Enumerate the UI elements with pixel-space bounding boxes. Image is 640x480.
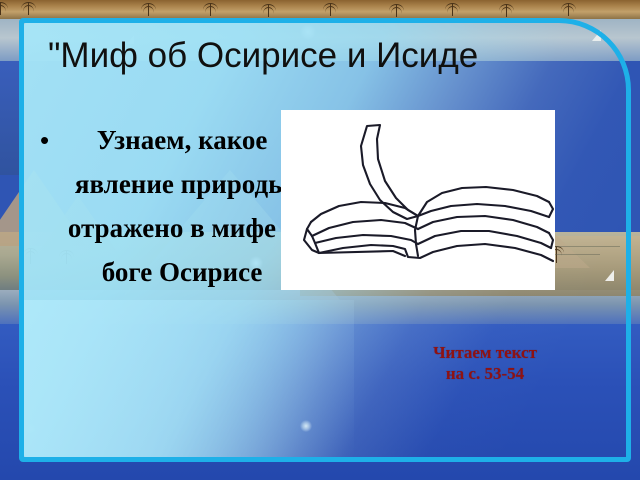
- palm-tree-icon: [568, 3, 569, 16]
- palm-tree-icon: [148, 3, 149, 16]
- palm-tree-icon: [506, 4, 507, 17]
- palm-tree-icon: [396, 4, 397, 17]
- background-top-bank-strip: [0, 0, 640, 19]
- presentation-slide: "Миф об Осирисе и Исиде • Узнаем, какое …: [0, 0, 640, 480]
- palm-tree-icon: [28, 2, 29, 15]
- bullet-list-item: • Узнаем, какое явление природы отражено…: [40, 118, 308, 294]
- palm-tree-icon: [268, 4, 269, 17]
- caption-line-1: Читаем текст: [400, 342, 570, 363]
- palm-tree-icon: [452, 3, 453, 16]
- slide-body: • Узнаем, какое явление природы отражено…: [40, 118, 308, 294]
- slide-content-panel-lower-wash: [24, 300, 354, 457]
- bullet-marker-icon: •: [40, 118, 49, 162]
- picture-frame-open-book: [281, 110, 555, 290]
- background-left-river: [0, 55, 24, 175]
- slide-title: "Миф об Осирисе и Исиде: [48, 34, 640, 78]
- caption-line-2: на с. 53-54: [400, 363, 570, 384]
- palm-tree-icon: [330, 3, 331, 16]
- palm-tree-icon: [210, 3, 211, 16]
- open-book-icon: [281, 110, 555, 290]
- bullet-text: Узнаем, какое явление природы отражено в…: [56, 118, 308, 294]
- read-text-caption: Читаем текст на с. 53-54: [400, 342, 570, 384]
